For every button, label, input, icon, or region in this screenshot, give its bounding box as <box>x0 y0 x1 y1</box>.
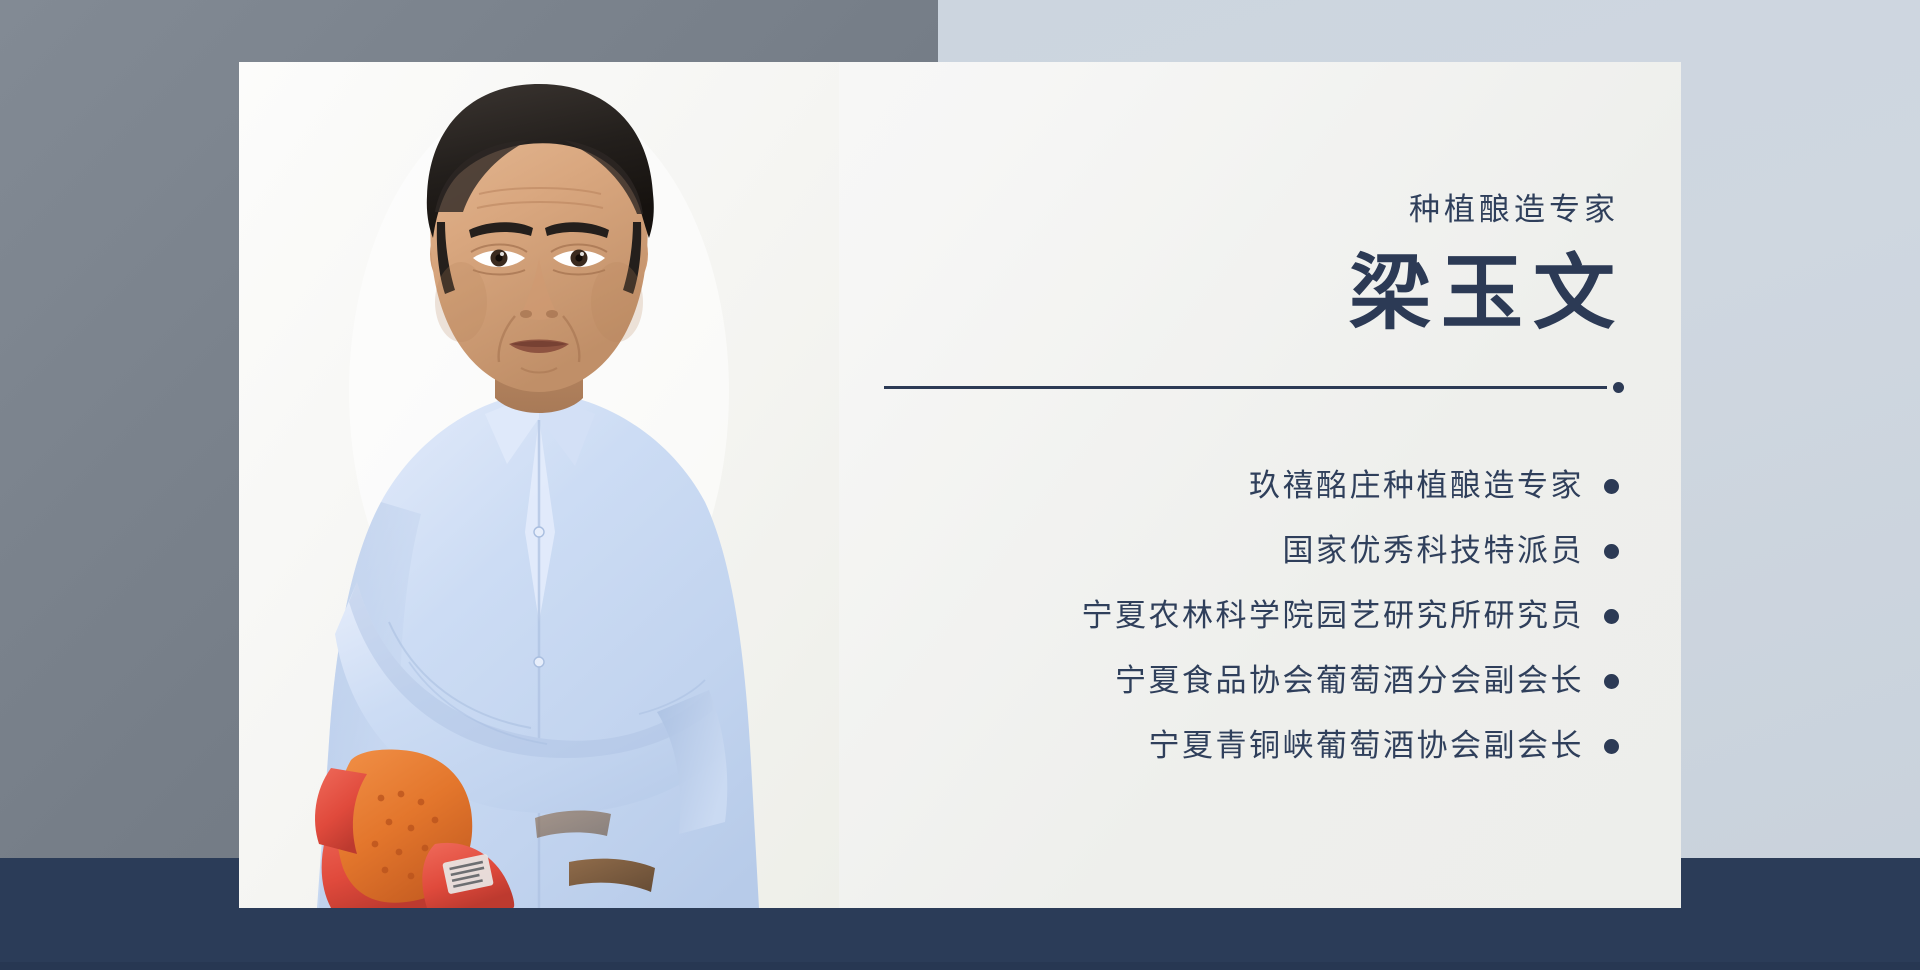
credential-label: 宁夏食品协会葡萄酒分会副会长 <box>1115 666 1584 697</box>
profile-card: 种植酿造专家 梁玉文 玖禧酩庄种植酿造专家 国家优秀科技特派员 宁夏农林科学院园… <box>239 62 1681 908</box>
bullet-icon <box>1604 739 1619 754</box>
profile-eyebrow: 种植酿造专家 <box>1409 195 1619 226</box>
list-item: 宁夏农林科学院园艺研究所研究员 <box>799 584 1619 649</box>
credential-list: 玖禧酩庄种植酿造专家 国家优秀科技特派员 宁夏农林科学院园艺研究所研究员 宁夏食… <box>799 454 1619 779</box>
divider-dot <box>1613 382 1624 393</box>
credential-label: 国家优秀科技特派员 <box>1283 536 1585 567</box>
list-item: 宁夏青铜峡葡萄酒协会副会长 <box>799 714 1619 779</box>
bullet-icon <box>1604 609 1619 624</box>
portrait-photo <box>239 62 839 908</box>
bullet-icon <box>1604 544 1619 559</box>
bullet-icon <box>1604 674 1619 689</box>
expert-profile-banner: 种植酿造专家 梁玉文 玖禧酩庄种植酿造专家 国家优秀科技特派员 宁夏农林科学院园… <box>0 0 1920 970</box>
divider-line <box>884 386 1607 389</box>
credential-label: 宁夏青铜峡葡萄酒协会副会长 <box>1149 731 1585 762</box>
divider <box>884 382 1624 394</box>
list-item: 玖禧酩庄种植酿造专家 <box>799 454 1619 519</box>
profile-info-column: 种植酿造专家 梁玉文 玖禧酩庄种植酿造专家 国家优秀科技特派员 宁夏农林科学院园… <box>799 62 1681 908</box>
credential-label: 玖禧酩庄种植酿造专家 <box>1249 471 1584 502</box>
page-title: 梁玉文 <box>1349 242 1625 345</box>
bullet-icon <box>1604 479 1619 494</box>
list-item: 国家优秀科技特派员 <box>799 519 1619 584</box>
credential-label: 宁夏农林科学院园艺研究所研究员 <box>1082 601 1585 632</box>
list-item: 宁夏食品协会葡萄酒分会副会长 <box>799 649 1619 714</box>
